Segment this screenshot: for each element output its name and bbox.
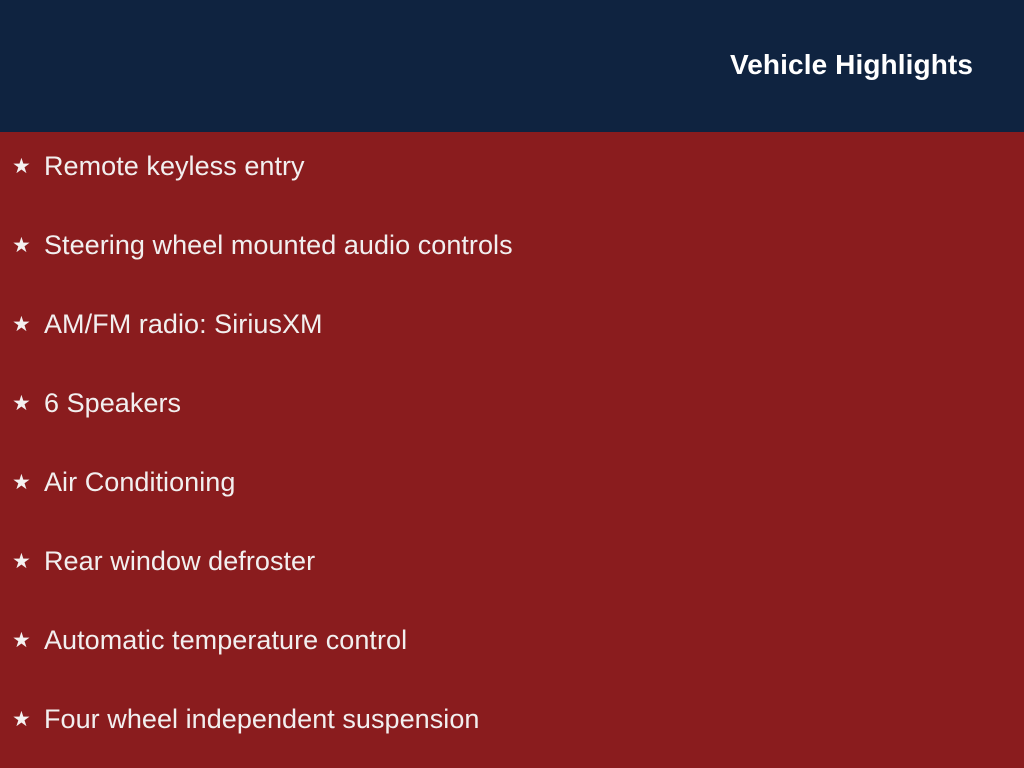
star-icon: ★ bbox=[12, 625, 34, 657]
list-item-label: Automatic temperature control bbox=[44, 622, 407, 658]
page-title: Vehicle Highlights bbox=[730, 48, 973, 82]
star-icon: ★ bbox=[12, 309, 34, 341]
list-item-label: Air Conditioning bbox=[44, 464, 235, 500]
list-item: ★ Four wheel independent suspension bbox=[0, 685, 1024, 764]
list-item-label: Four wheel independent suspension bbox=[44, 701, 479, 737]
list-item: ★ Steering wheel mounted audio controls bbox=[0, 211, 1024, 290]
list-item: ★ Rear window defroster bbox=[0, 527, 1024, 606]
star-icon: ★ bbox=[12, 230, 34, 262]
list-item: ★ Air Conditioning bbox=[0, 448, 1024, 527]
slide-header-band: Vehicle Highlights bbox=[0, 0, 1024, 132]
list-item: ★ Remote keyless entry bbox=[0, 132, 1024, 211]
list-item: ★ Automatic temperature control bbox=[0, 606, 1024, 685]
star-icon: ★ bbox=[12, 388, 34, 420]
vehicle-highlights-slide: Vehicle Highlights ★ Remote keyless entr… bbox=[0, 0, 1024, 768]
list-item-label: Steering wheel mounted audio controls bbox=[44, 227, 513, 263]
star-icon: ★ bbox=[12, 546, 34, 578]
list-item-label: Remote keyless entry bbox=[44, 148, 305, 184]
list-item-label: Rear window defroster bbox=[44, 543, 315, 579]
vehicle-highlights-list: ★ Remote keyless entry ★ Steering wheel … bbox=[0, 132, 1024, 764]
list-item-label: 6 Speakers bbox=[44, 385, 181, 421]
list-item-label: AM/FM radio: SiriusXM bbox=[44, 306, 323, 342]
star-icon: ★ bbox=[12, 467, 34, 499]
star-icon: ★ bbox=[12, 704, 34, 736]
list-item: ★ AM/FM radio: SiriusXM bbox=[0, 290, 1024, 369]
star-icon: ★ bbox=[12, 151, 34, 183]
list-item: ★ 6 Speakers bbox=[0, 369, 1024, 448]
